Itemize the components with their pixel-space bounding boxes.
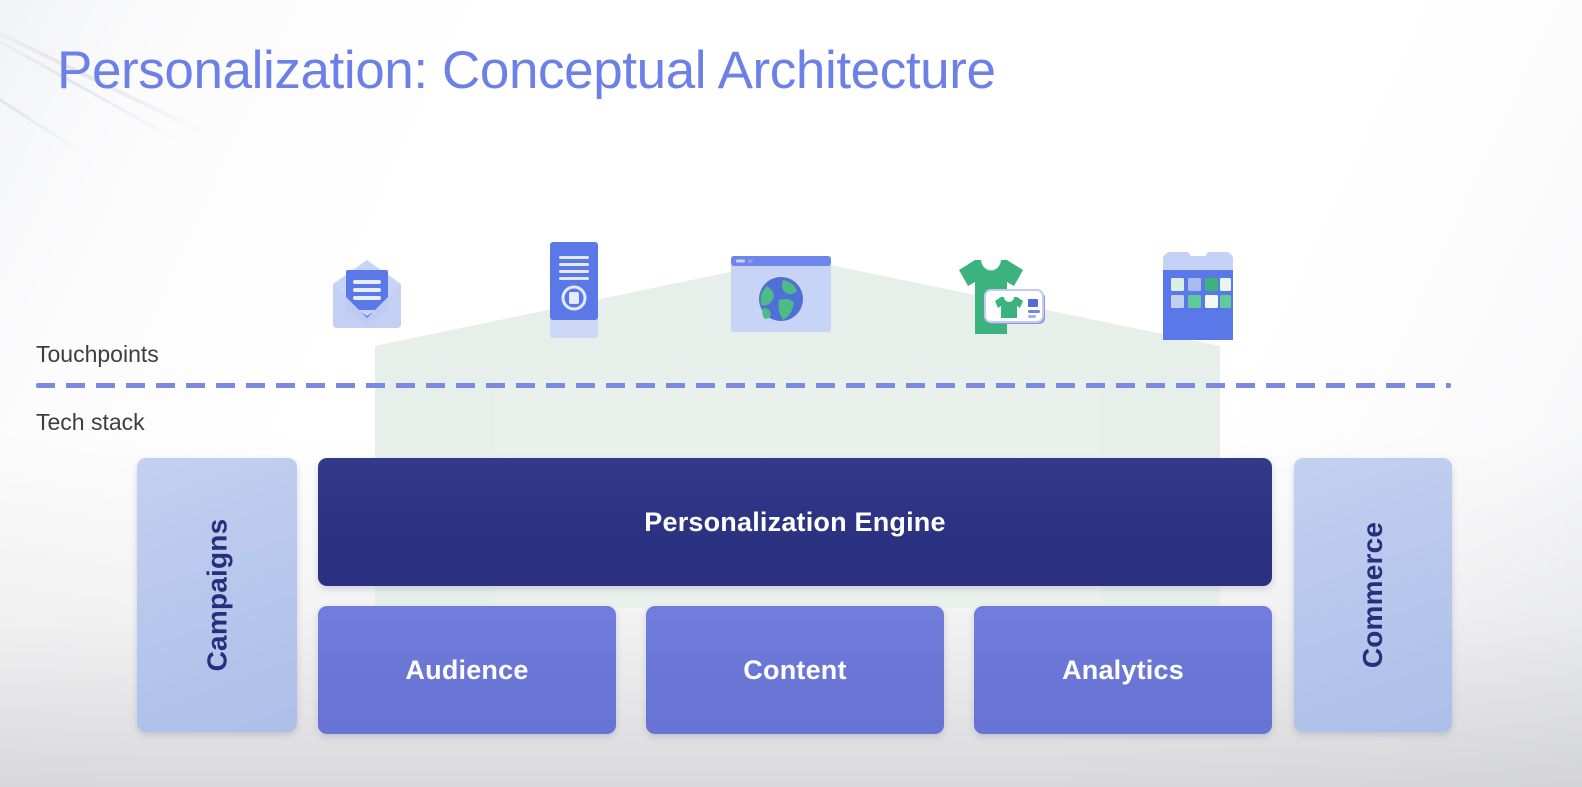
tech-stack-label: Tech stack: [36, 409, 145, 436]
analytics-label: Analytics: [1062, 655, 1184, 686]
content-label: Content: [743, 655, 846, 686]
web-globe-icon: [731, 256, 831, 332]
mobile-app-icon: [1159, 248, 1237, 340]
commerce-label: Commerce: [1357, 522, 1389, 668]
retail-product-icon: [935, 256, 1047, 336]
campaigns-panel[interactable]: Campaigns: [137, 458, 297, 732]
audience-label: Audience: [405, 655, 528, 686]
campaigns-label: Campaigns: [201, 519, 233, 672]
analytics-box[interactable]: Analytics: [974, 606, 1272, 734]
email-icon: [329, 258, 405, 330]
touchpoints-label: Touchpoints: [36, 341, 159, 368]
page-title: Personalization: Conceptual Architecture: [57, 40, 996, 101]
mobile-push-icon: [546, 240, 602, 340]
audience-box[interactable]: Audience: [318, 606, 616, 734]
tier-divider-dashed-line: [36, 383, 1451, 388]
personalization-engine-box[interactable]: Personalization Engine: [318, 458, 1272, 586]
slide-canvas: Personalization: Conceptual Architecture: [0, 0, 1582, 787]
personalization-engine-label: Personalization Engine: [644, 507, 945, 538]
content-box[interactable]: Content: [646, 606, 944, 734]
commerce-panel[interactable]: Commerce: [1294, 458, 1452, 732]
